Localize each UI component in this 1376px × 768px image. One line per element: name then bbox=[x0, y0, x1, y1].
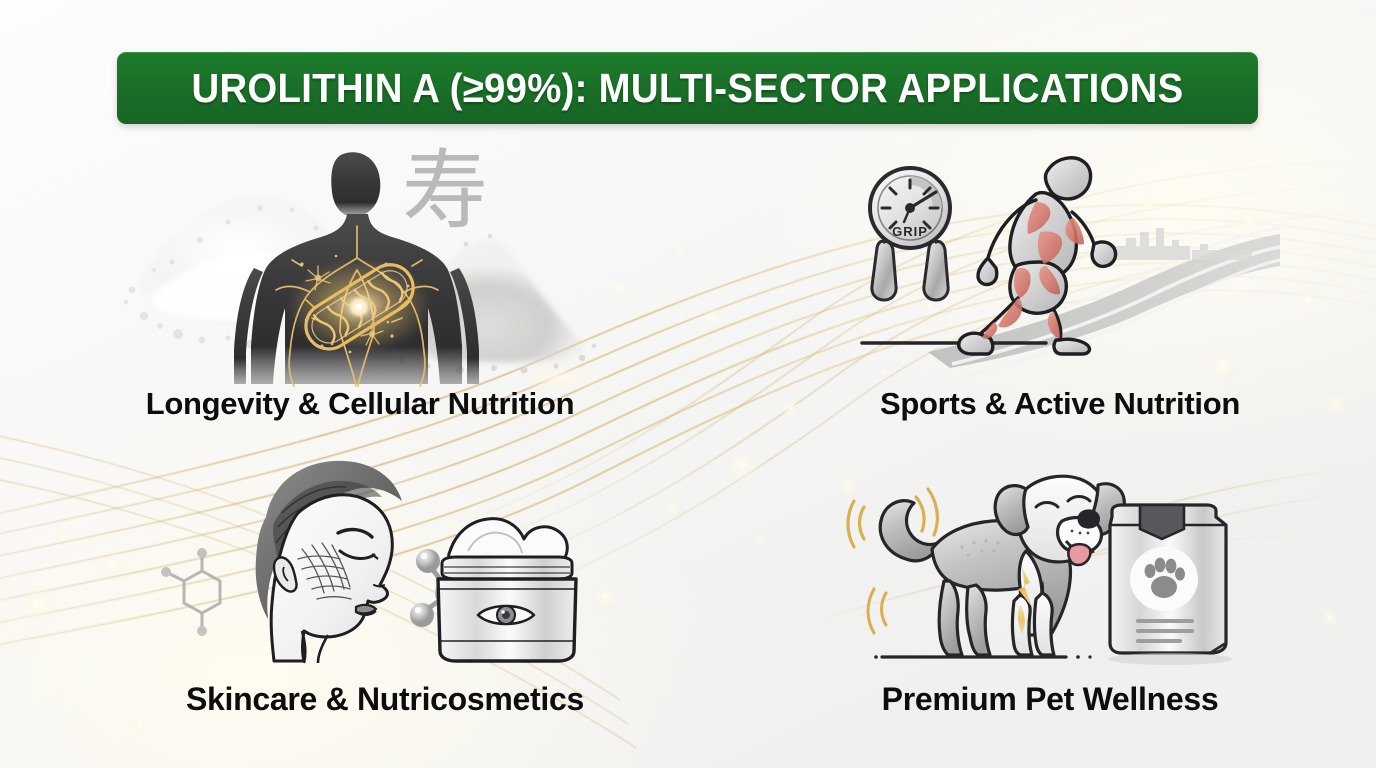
sector-label-skincare: Skincare & Nutricosmetics bbox=[150, 683, 620, 715]
sector-label-sports: Sports & Active Nutrition bbox=[840, 388, 1280, 419]
pet-illustration bbox=[840, 455, 1260, 683]
city-skyline-icon bbox=[1112, 228, 1252, 260]
leg-motion-icon bbox=[868, 589, 886, 633]
grip-dynamometer-icon: GRIP bbox=[870, 168, 950, 300]
title-banner: UROLITHIN A (≥99%): MULTI-SECTOR APPLICA… bbox=[117, 52, 1258, 124]
benzene-ring-icon bbox=[161, 548, 220, 636]
skincare-illustration bbox=[150, 455, 620, 683]
poster-canvas: UROLITHIN A (≥99%): MULTI-SECTOR APPLICA… bbox=[0, 0, 1376, 768]
skincare-artwork bbox=[150, 455, 620, 683]
sector-card-longevity: 寿 bbox=[110, 140, 610, 440]
sector-card-sports: GRIP bbox=[840, 140, 1280, 440]
kanji-longevity-glyph: 寿 bbox=[402, 148, 488, 234]
sector-card-skincare: Skincare & Nutricosmetics bbox=[150, 455, 620, 745]
sports-illustration: GRIP bbox=[840, 140, 1280, 388]
eye-logo-icon bbox=[478, 606, 534, 624]
sector-label-pet: Premium Pet Wellness bbox=[840, 683, 1260, 715]
grip-gauge-label: GRIP bbox=[892, 224, 928, 239]
sector-card-pet: Premium Pet Wellness bbox=[840, 455, 1260, 745]
sports-artwork: GRIP bbox=[840, 140, 1280, 388]
pet-food-bag-icon bbox=[1110, 505, 1226, 653]
pet-artwork bbox=[840, 455, 1260, 683]
longevity-artwork: 寿 bbox=[110, 140, 610, 388]
longevity-illustration bbox=[110, 140, 610, 388]
cream-jar-icon bbox=[438, 519, 576, 661]
bag-shadow bbox=[1108, 653, 1232, 665]
dog-icon bbox=[880, 476, 1124, 655]
page-title: UROLITHIN A (≥99%): MULTI-SECTOR APPLICA… bbox=[191, 65, 1183, 112]
sector-label-longevity: Longevity & Cellular Nutrition bbox=[110, 388, 610, 419]
